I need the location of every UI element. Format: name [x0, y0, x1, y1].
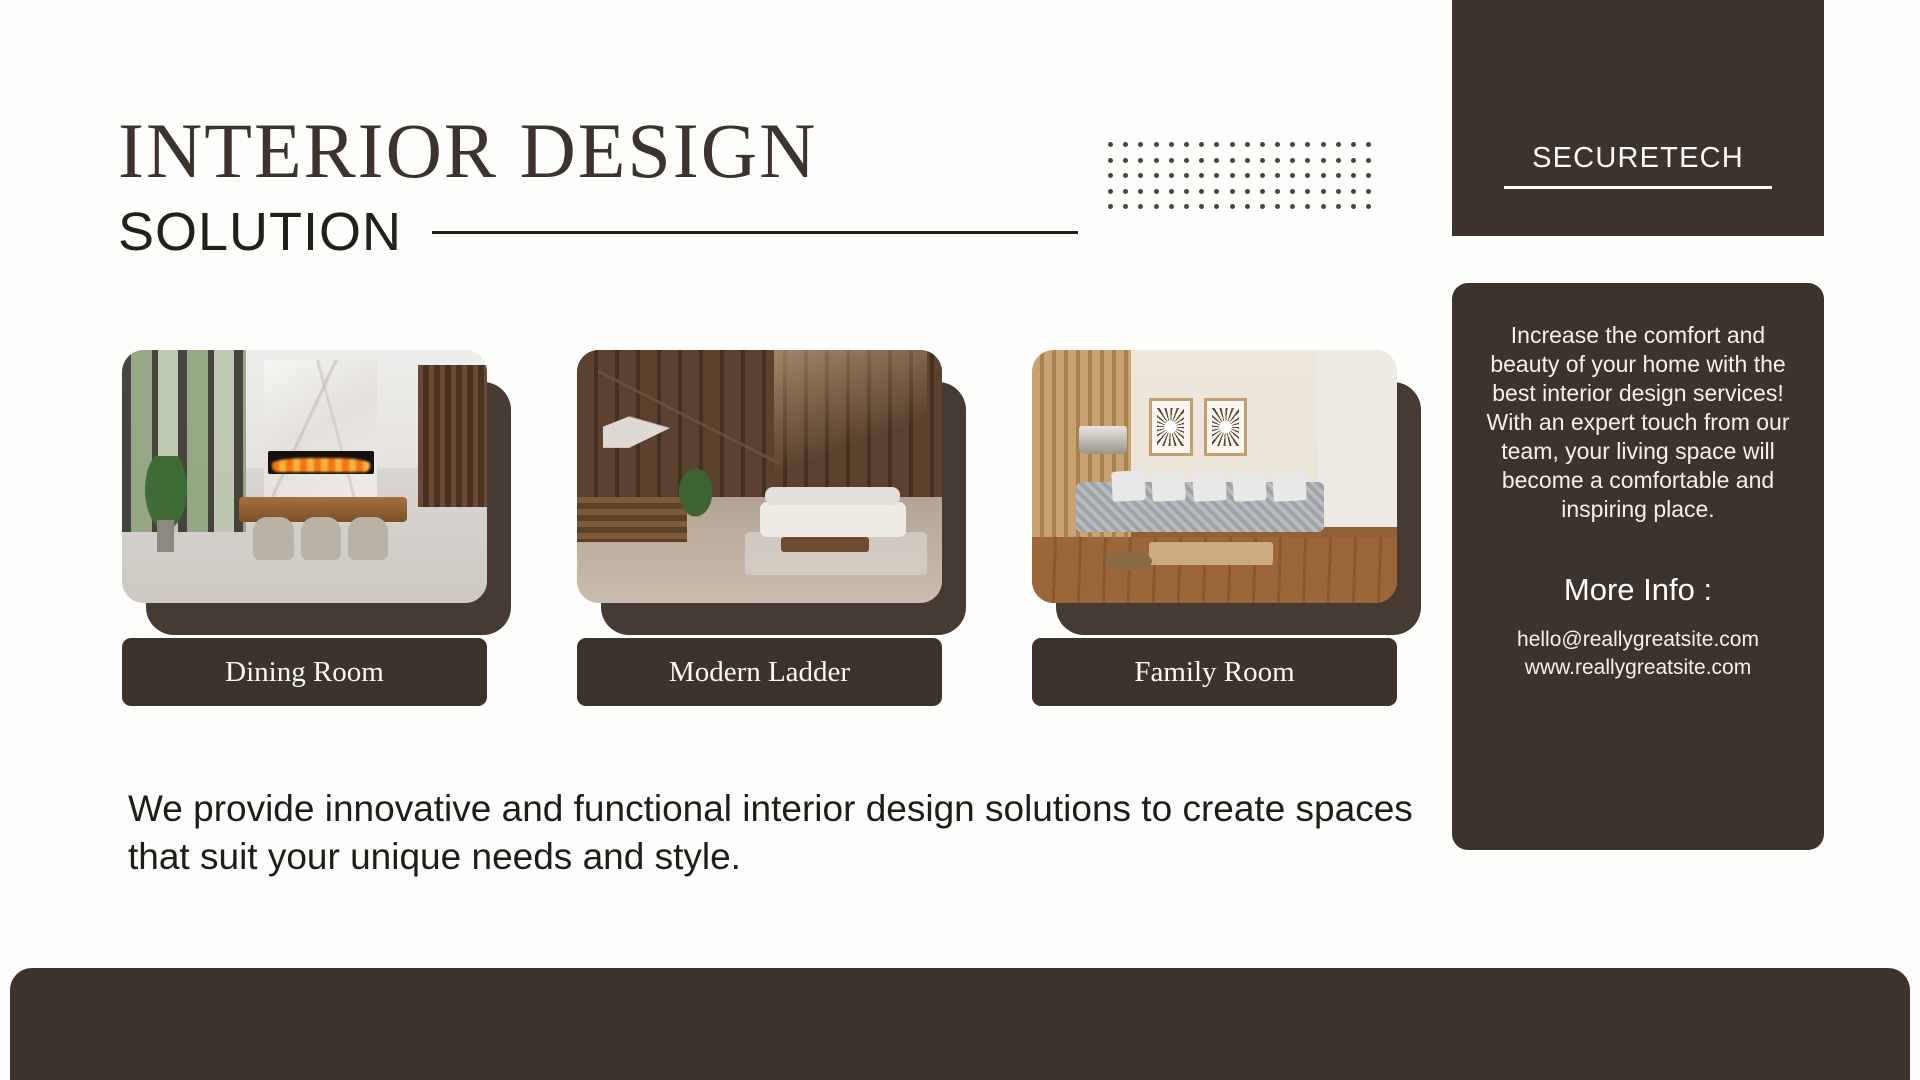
grid-dot	[1321, 142, 1326, 147]
grid-dot	[1184, 189, 1189, 194]
subtitle-row: SOLUTION	[118, 204, 1078, 261]
family-room-photo	[1032, 350, 1397, 603]
grid-dot	[1245, 142, 1250, 147]
grid-dot	[1138, 142, 1143, 147]
grid-dot	[1230, 158, 1235, 163]
footer-bar	[10, 968, 1910, 1080]
grid-dot	[1351, 158, 1356, 163]
grid-dot	[1184, 173, 1189, 178]
grid-dot	[1305, 204, 1310, 209]
grid-dot	[1275, 173, 1280, 178]
grid-dot	[1366, 142, 1371, 147]
grid-dot	[1351, 189, 1356, 194]
grid-dot	[1199, 189, 1204, 194]
grid-dot	[1154, 142, 1159, 147]
grid-dot	[1214, 142, 1219, 147]
grid-dot	[1305, 189, 1310, 194]
grid-dot	[1290, 142, 1295, 147]
grid-dot	[1336, 158, 1341, 163]
grid-dot	[1245, 189, 1250, 194]
brand-name: SECURETECH	[1532, 142, 1744, 175]
grid-dot	[1214, 173, 1219, 178]
grid-dot	[1321, 204, 1326, 209]
grid-dot	[1275, 142, 1280, 147]
grid-dot	[1366, 189, 1371, 194]
body-paragraph: We provide innovative and functional int…	[128, 785, 1428, 880]
grid-dot	[1260, 173, 1265, 178]
grid-dot	[1245, 204, 1250, 209]
grid-dot	[1260, 189, 1265, 194]
grid-dot	[1321, 189, 1326, 194]
grid-dot	[1108, 189, 1113, 194]
grid-dot	[1169, 142, 1174, 147]
grid-dot	[1199, 204, 1204, 209]
grid-dot	[1108, 204, 1113, 209]
grid-dot	[1230, 204, 1235, 209]
grid-dot	[1260, 158, 1265, 163]
grid-dot	[1275, 189, 1280, 194]
dining-room-photo	[122, 350, 487, 603]
grid-dot	[1169, 189, 1174, 194]
grid-dot	[1366, 173, 1371, 178]
grid-dot	[1290, 189, 1295, 194]
grid-dot	[1123, 142, 1128, 147]
gallery-card[interactable]: Dining Room	[122, 350, 487, 603]
grid-dot	[1290, 204, 1295, 209]
grid-dot	[1184, 204, 1189, 209]
card-caption: Family Room	[1032, 638, 1397, 706]
grid-dot	[1123, 204, 1128, 209]
grid-dot	[1154, 173, 1159, 178]
grid-dot	[1169, 173, 1174, 178]
grid-dot	[1108, 173, 1113, 178]
grid-dot	[1108, 142, 1113, 147]
grid-dot	[1108, 158, 1113, 163]
gallery-card[interactable]: Family Room	[1032, 350, 1397, 603]
modern-ladder-photo	[577, 350, 942, 603]
grid-dot	[1169, 158, 1174, 163]
grid-dot	[1366, 204, 1371, 209]
grid-dot	[1290, 158, 1295, 163]
card-caption: Modern Ladder	[577, 638, 942, 706]
grid-dot	[1305, 158, 1310, 163]
grid-dot	[1123, 173, 1128, 178]
grid-dot	[1138, 204, 1143, 209]
grid-dot	[1199, 158, 1204, 163]
grid-dot	[1275, 204, 1280, 209]
grid-dot	[1321, 173, 1326, 178]
grid-dot	[1184, 158, 1189, 163]
grid-dot	[1230, 189, 1235, 194]
grid-dot	[1351, 204, 1356, 209]
grid-dot	[1351, 173, 1356, 178]
brand-underline	[1504, 186, 1772, 189]
page-subtitle: SOLUTION	[118, 204, 402, 261]
grid-dot	[1138, 173, 1143, 178]
grid-dot	[1336, 189, 1341, 194]
grid-dot	[1214, 158, 1219, 163]
grid-dot	[1305, 142, 1310, 147]
sidebar-description: Increase the comfort and beauty of your …	[1482, 321, 1794, 524]
grid-dot	[1138, 189, 1143, 194]
grid-dot	[1199, 173, 1204, 178]
grid-dot	[1230, 142, 1235, 147]
grid-dot	[1123, 158, 1128, 163]
grid-dot	[1305, 173, 1310, 178]
gallery-card[interactable]: Modern Ladder	[577, 350, 942, 603]
dot-grid-decoration	[1108, 142, 1381, 220]
grid-dot	[1336, 204, 1341, 209]
grid-dot	[1154, 158, 1159, 163]
grid-dot	[1199, 142, 1204, 147]
grid-dot	[1214, 204, 1219, 209]
grid-dot	[1245, 158, 1250, 163]
grid-dot	[1184, 142, 1189, 147]
sidebar-brand-panel: SECURETECH	[1452, 0, 1824, 236]
contact-website[interactable]: www.reallygreatsite.com	[1482, 656, 1794, 680]
grid-dot	[1123, 189, 1128, 194]
grid-dot	[1138, 158, 1143, 163]
grid-dot	[1245, 173, 1250, 178]
grid-dot	[1321, 158, 1326, 163]
grid-dot	[1275, 158, 1280, 163]
grid-dot	[1351, 142, 1356, 147]
grid-dot	[1336, 173, 1341, 178]
contact-email[interactable]: hello@reallygreatsite.com	[1482, 628, 1794, 652]
grid-dot	[1336, 142, 1341, 147]
card-caption: Dining Room	[122, 638, 487, 706]
grid-dot	[1230, 173, 1235, 178]
grid-dot	[1260, 204, 1265, 209]
grid-dot	[1154, 189, 1159, 194]
grid-dot	[1260, 142, 1265, 147]
grid-dot	[1366, 158, 1371, 163]
grid-dot	[1169, 204, 1174, 209]
more-info-heading: More Info :	[1482, 572, 1794, 608]
grid-dot	[1154, 204, 1159, 209]
subtitle-divider	[432, 231, 1078, 234]
sidebar-info-panel: Increase the comfort and beauty of your …	[1452, 283, 1824, 850]
grid-dot	[1290, 173, 1295, 178]
grid-dot	[1214, 189, 1219, 194]
